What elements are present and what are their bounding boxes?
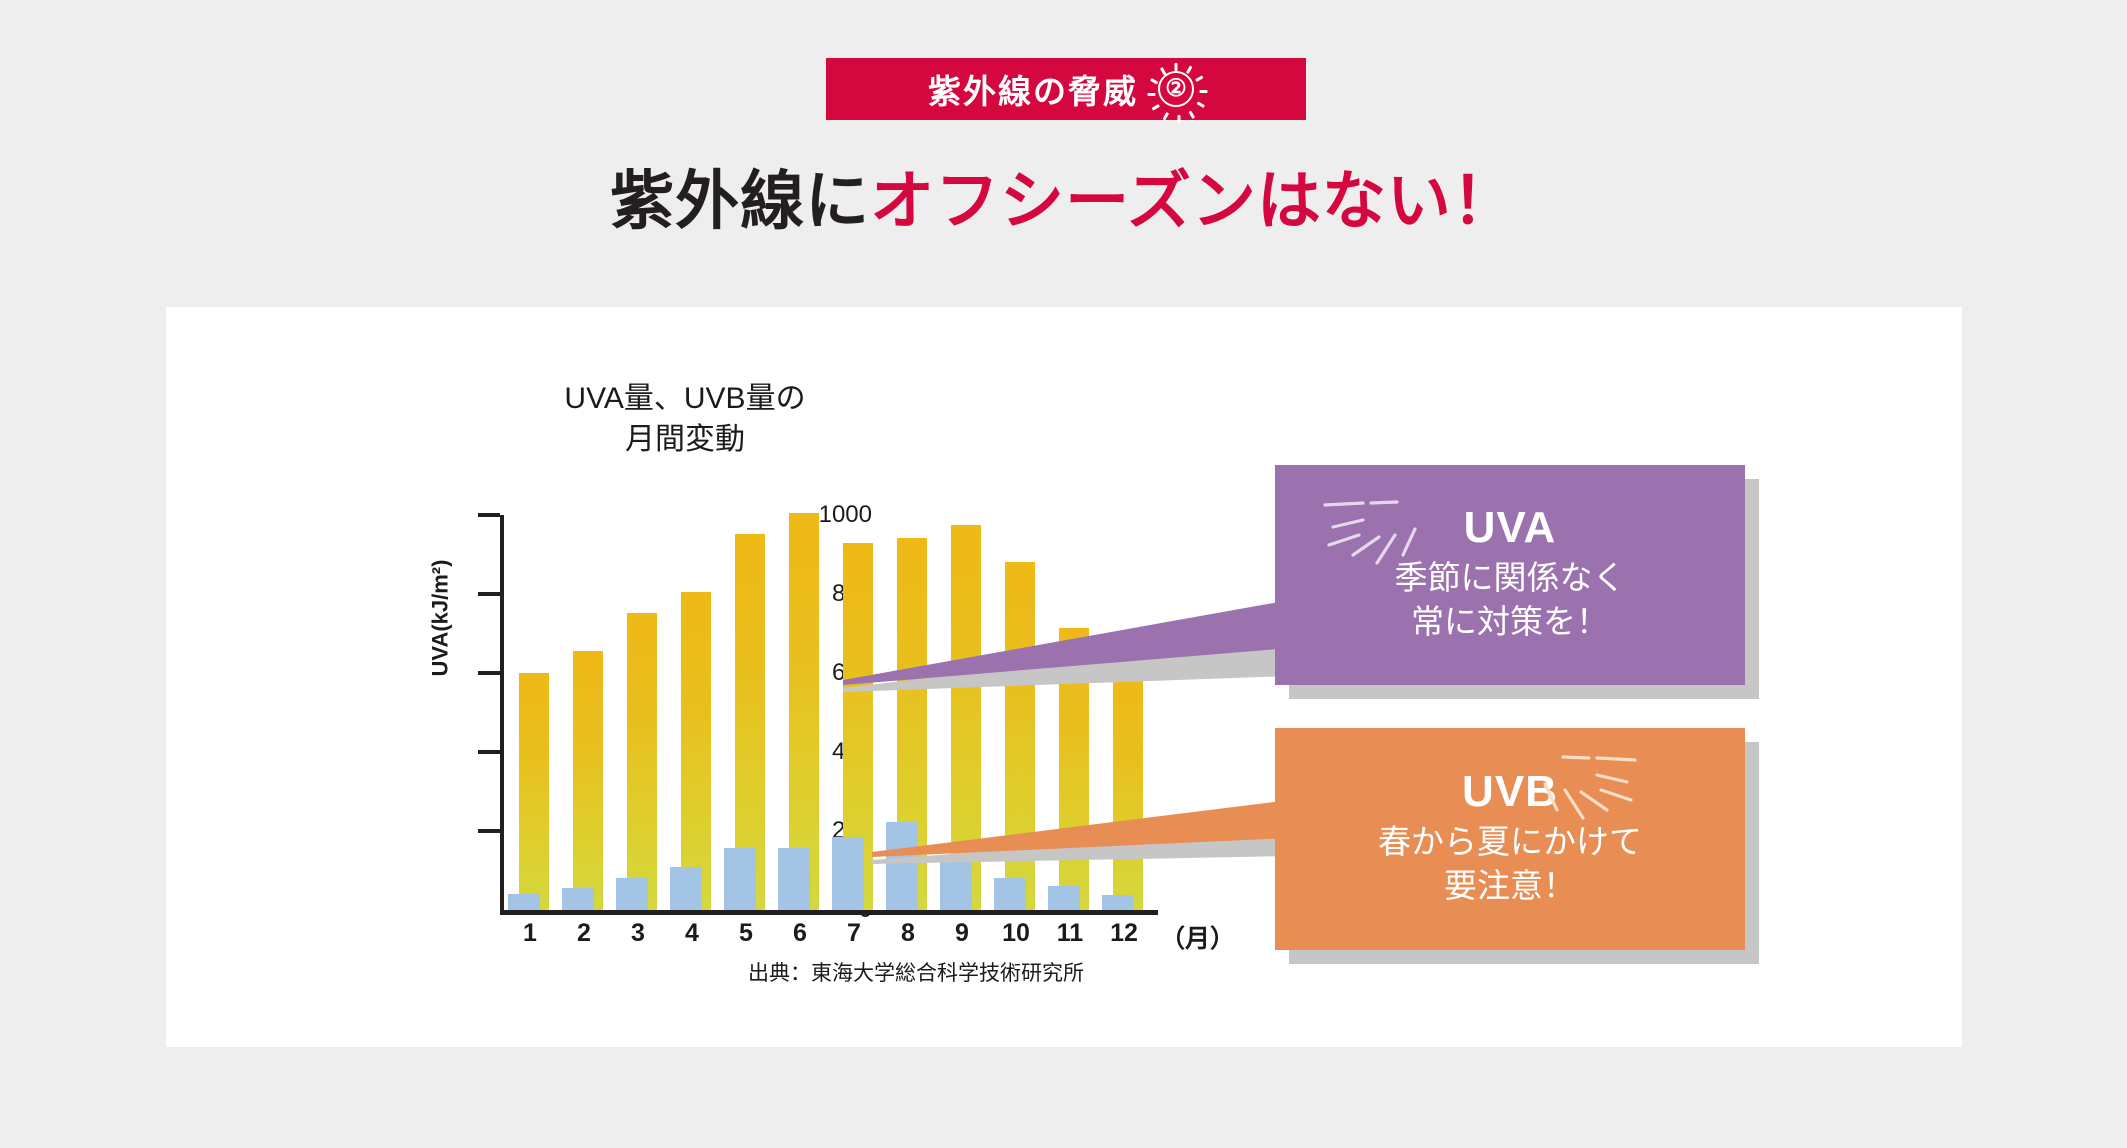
bar-column-month-3: [616, 505, 668, 910]
x-axis-unit-label: （月）: [1160, 919, 1235, 955]
bar-column-month-12: [1102, 505, 1154, 910]
bar-uvb-month-8: [886, 822, 918, 910]
bar-uvb-month-4: [670, 867, 702, 910]
bar-uvb-month-6: [778, 848, 810, 910]
callout-uvb-desc-line2: 要注意！: [1444, 864, 1576, 908]
bar-uvb-month-10: [994, 878, 1026, 910]
x-tick-label-3: 3: [612, 919, 664, 948]
bar-chart: UVA(kJ/m²) 10008006004002000 12345678910…: [500, 505, 900, 915]
bar-uvb-month-7: [832, 837, 864, 910]
bar-column-month-2: [562, 505, 614, 910]
chart-title-line2: 月間変動: [505, 419, 865, 460]
sun-rays-icon: [1511, 748, 1641, 838]
sun-burst-icon: ②: [1148, 61, 1204, 117]
chart-title-line1: UVA量、UVB量の: [505, 378, 865, 419]
bar-uva-month-12: [1113, 673, 1143, 910]
headline-part-red: オフシーズンはない！: [870, 166, 1517, 237]
callout-uva-desc-line2: 常に対策を！: [1411, 600, 1609, 644]
y-axis-title: UVA(kJ/m²): [427, 560, 453, 677]
bar-uva-month-9: [951, 525, 981, 910]
page-headline: 紫外線にオフシーズンはない！: [0, 150, 2127, 242]
bar-column-month-10: [994, 505, 1046, 910]
bar-uvb-month-3: [616, 878, 648, 910]
bar-uva-month-1: [519, 673, 549, 910]
bar-uva-month-11: [1059, 628, 1089, 910]
bar-column-month-8: [886, 505, 938, 910]
bar-uvb-month-2: [562, 888, 594, 911]
x-tick-label-9: 9: [936, 919, 988, 948]
y-tick-1000: [478, 513, 500, 517]
x-tick-label-11: 11: [1044, 919, 1096, 948]
bar-column-month-4: [670, 505, 722, 910]
x-tick-label-4: 4: [666, 919, 718, 948]
bar-column-month-5: [724, 505, 776, 910]
y-tick-600: [478, 671, 500, 675]
bar-column-month-11: [1048, 505, 1100, 910]
bar-uvb-month-12: [1102, 895, 1134, 910]
chart-source-note: 出典：東海大学総合科学技術研究所: [748, 957, 1084, 987]
bar-column-month-7: [832, 505, 884, 910]
callout-uva: UVA 季節に関係なく 常に対策を！: [1275, 465, 1745, 685]
sun-rays-icon: [1319, 493, 1449, 583]
x-tick-label-7: 7: [828, 919, 880, 948]
bar-column-month-1: [508, 505, 560, 910]
x-tick-label-1: 1: [504, 919, 556, 948]
callout-uvb-body: UVB 春から夏にかけて 要注意！: [1275, 728, 1745, 950]
bar-uva-month-10: [1005, 562, 1035, 910]
callout-uva-body: UVA 季節に関係なく 常に対策を！: [1275, 465, 1745, 685]
bar-group: [504, 505, 1160, 910]
x-tick-label-2: 2: [558, 919, 610, 948]
bar-uva-month-4: [681, 592, 711, 910]
x-axis-line: [500, 910, 1158, 915]
section-banner: 紫外線の脅威 ②: [826, 58, 1306, 120]
y-tick-0: [478, 908, 500, 912]
banner-badge-number: ②: [1158, 71, 1194, 107]
x-tick-label-5: 5: [720, 919, 772, 948]
x-tick-label-10: 10: [990, 919, 1042, 948]
y-tick-400: [478, 750, 500, 754]
bar-column-month-9: [940, 505, 992, 910]
bar-uva-month-3: [627, 613, 657, 910]
callout-uva-label: UVA: [1464, 506, 1557, 550]
x-tick-label-8: 8: [882, 919, 934, 948]
bar-uvb-month-1: [508, 894, 540, 910]
bar-uva-month-2: [573, 651, 603, 910]
callout-uvb: UVB 春から夏にかけて 要注意！: [1275, 728, 1745, 950]
bar-uvb-month-11: [1048, 886, 1080, 910]
x-tick-label-12: 12: [1098, 919, 1150, 948]
bar-uvb-month-5: [724, 848, 756, 910]
y-tick-800: [478, 592, 500, 596]
x-tick-label-6: 6: [774, 919, 826, 948]
bar-uvb-month-9: [940, 855, 972, 910]
bar-column-month-6: [778, 505, 830, 910]
chart-title: UVA量、UVB量の 月間変動: [505, 378, 865, 461]
banner-title: 紫外線の脅威: [928, 65, 1138, 113]
y-tick-200: [478, 829, 500, 833]
headline-part-dark: 紫外線に: [610, 166, 870, 237]
